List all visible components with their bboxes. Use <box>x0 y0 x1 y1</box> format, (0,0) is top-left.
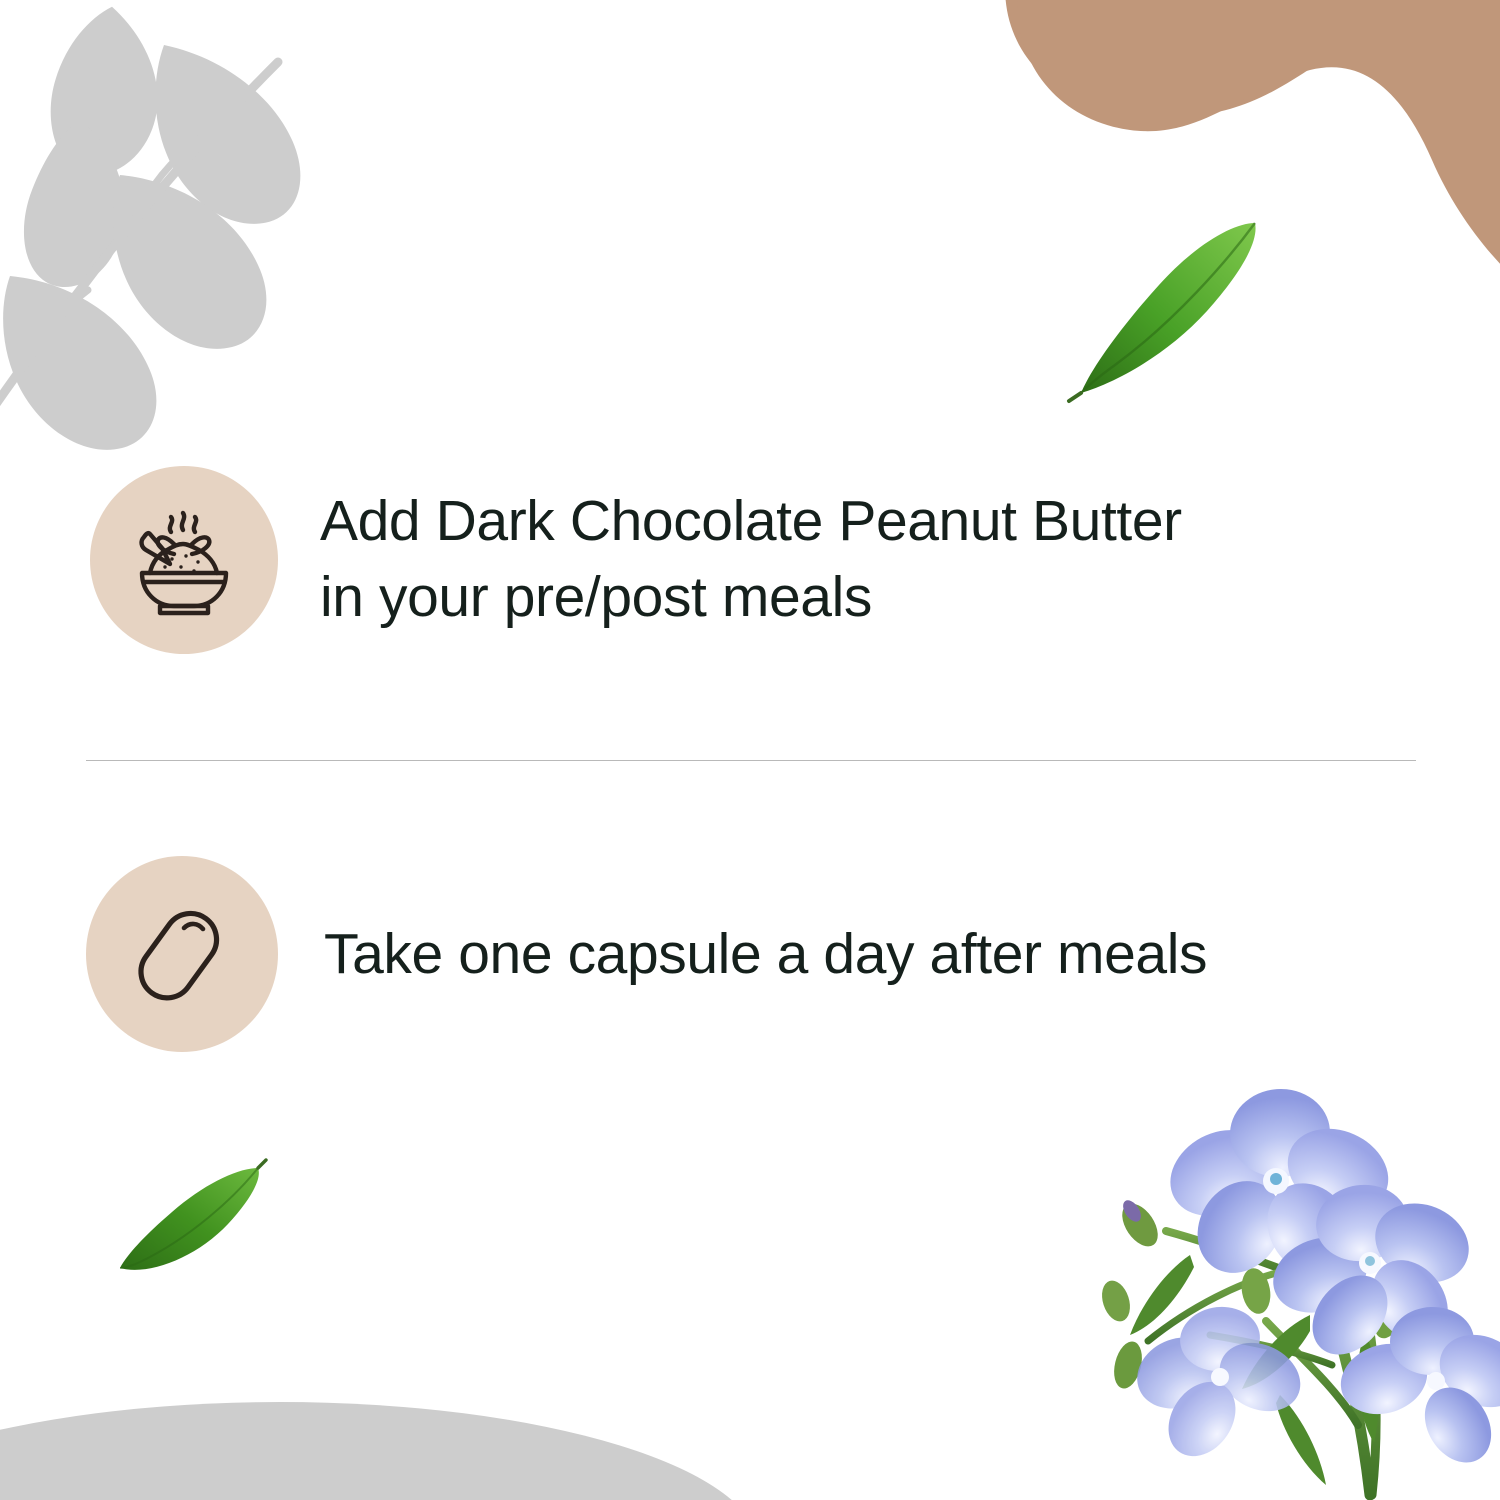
tip-row-add-peanut-butter: Add Dark Chocolate Peanut Butter in your… <box>90 466 1350 654</box>
capsule-icon-badge <box>86 856 278 1052</box>
tip-text-take-capsule: Take one capsule a day after meals <box>324 920 1207 988</box>
tip-row-take-capsule: Take one capsule a day after meals <box>86 856 1346 1052</box>
capsule-icon <box>126 898 238 1010</box>
rice-bowl-icon <box>124 500 244 620</box>
rice-bowl-icon-badge <box>90 466 278 654</box>
tips-list: Add Dark Chocolate Peanut Butter in your… <box>0 0 1500 1500</box>
promo-card: Add Dark Chocolate Peanut Butter in your… <box>0 0 1500 1500</box>
tip-text-add-peanut-butter: Add Dark Chocolate Peanut Butter in your… <box>320 484 1182 636</box>
